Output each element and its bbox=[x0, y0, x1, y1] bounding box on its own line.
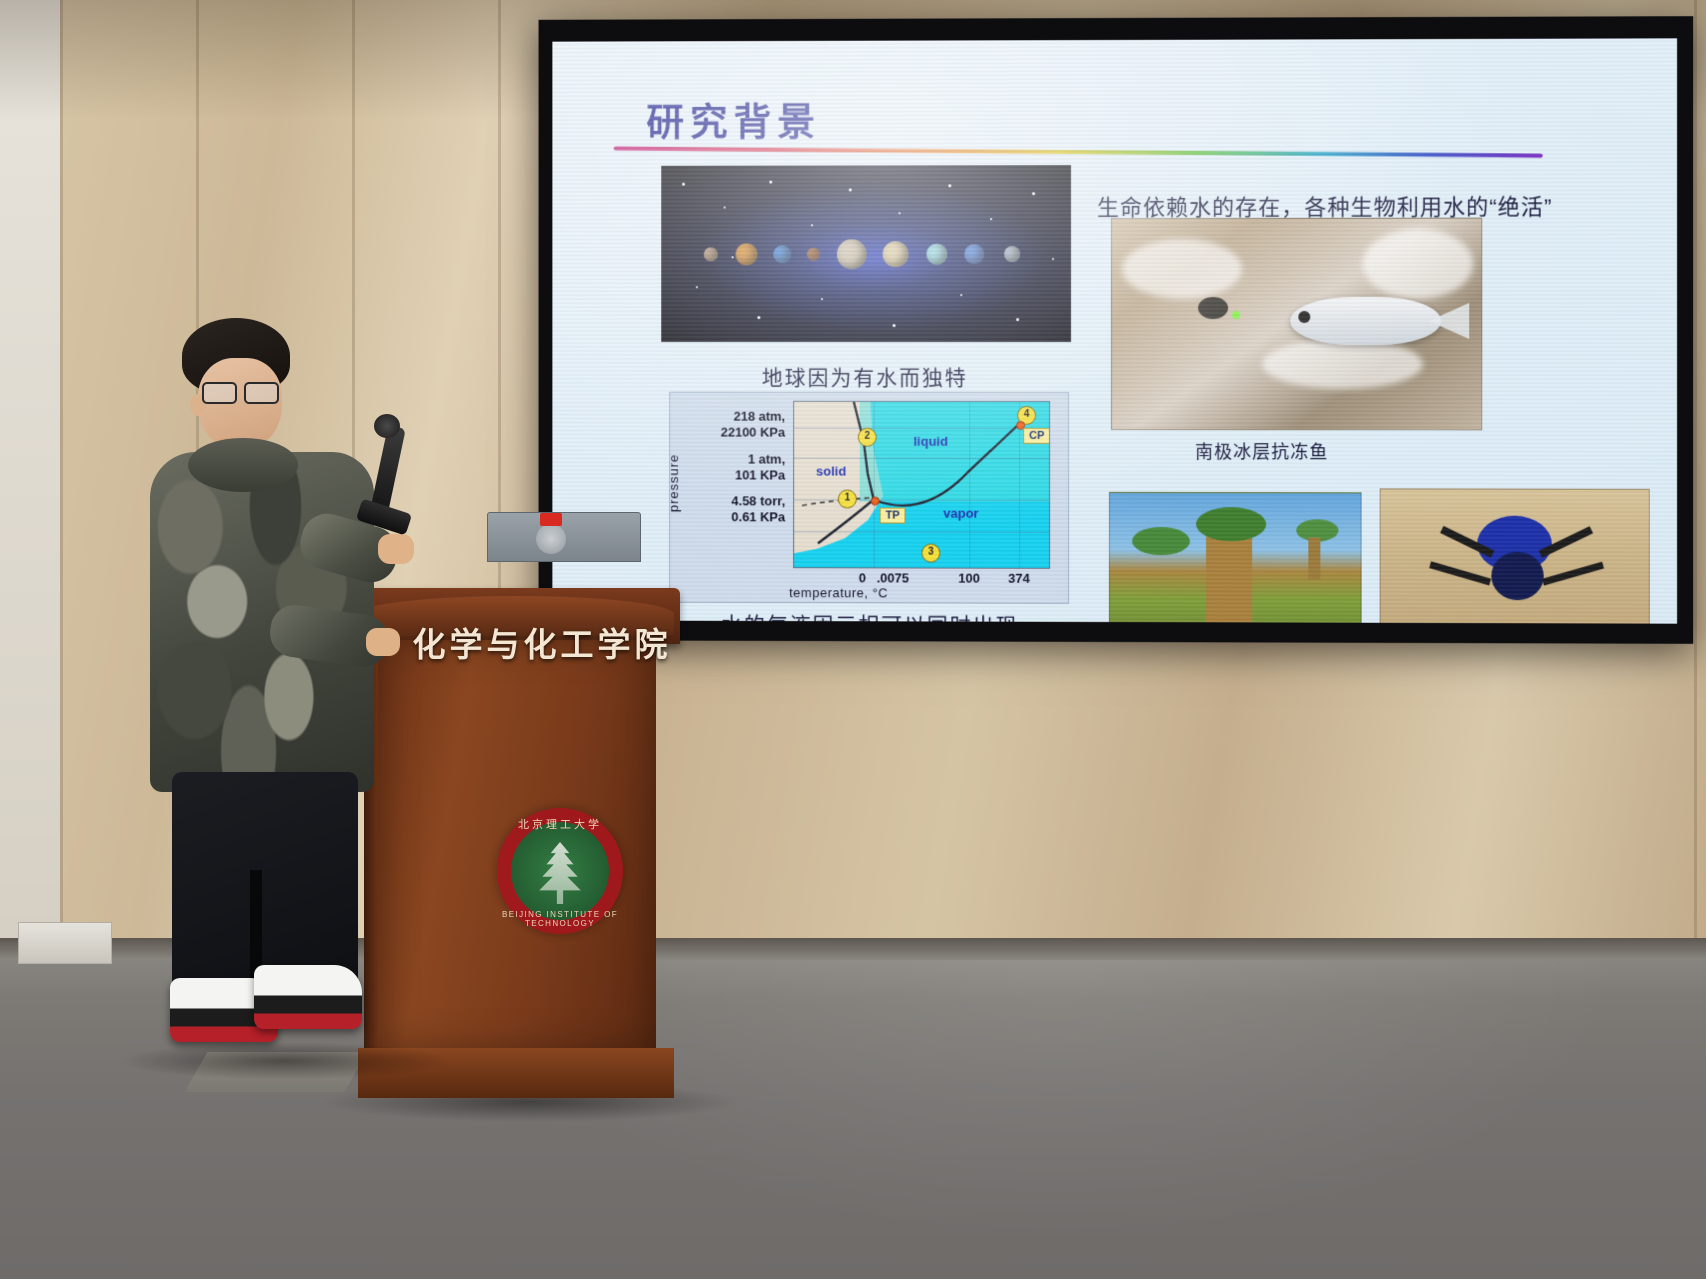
solar-system-image bbox=[661, 165, 1071, 342]
emblem-english-name: BEIJING INSTITUTE OF TECHNOLOGY bbox=[497, 910, 623, 928]
university-emblem: 北京理工大学 BEIJING INSTITUTE OF TECHNOLOGY bbox=[497, 808, 623, 934]
emblem-inner-disc bbox=[511, 822, 609, 920]
phase-diagram-x-ticks: 0 .0075 100 374 bbox=[793, 570, 1052, 571]
region-label-vapor: vapor bbox=[943, 506, 978, 521]
triple-point-dot bbox=[871, 497, 880, 506]
baobab-tree-photo bbox=[1109, 492, 1362, 624]
phase-diagram: 218 atm, 22100 KPa 1 atm, 101 KPa 4.58 t… bbox=[669, 392, 1069, 604]
caption-antarctic-fish: 南极冰层抗冻鱼 bbox=[1195, 438, 1328, 464]
pressure-label-critical-line2: 22100 KPa bbox=[678, 424, 785, 440]
planet-uranus bbox=[926, 243, 947, 264]
fish-eye bbox=[1298, 311, 1310, 323]
critical-point-tag: CP bbox=[1023, 428, 1050, 444]
planet-mercury bbox=[704, 247, 718, 261]
presentation-slide: 研究背景 bbox=[552, 38, 1677, 623]
emblem-chinese-name: 北京理工大学 bbox=[497, 816, 623, 832]
desert-beetle-photo bbox=[1380, 488, 1650, 623]
pressure-label-triple-line2: 0.61 KPa bbox=[678, 509, 785, 525]
phase-diagram-plot-area: solid liquid vapor 1 2 3 4 TP CP bbox=[793, 401, 1050, 569]
rainbow-divider bbox=[614, 146, 1543, 157]
marker-1: 1 bbox=[838, 490, 857, 509]
planet-pluto bbox=[1004, 246, 1020, 262]
presenter-hood bbox=[188, 438, 298, 492]
pressure-label-atm-line1: 1 atm, bbox=[678, 451, 785, 467]
triple-point-tag: TP bbox=[880, 508, 906, 524]
pressure-label-atm-line2: 101 KPa bbox=[678, 467, 785, 483]
marker-3: 3 bbox=[921, 544, 940, 563]
planet-saturn bbox=[883, 241, 909, 267]
planet-mars bbox=[807, 247, 820, 260]
phase-diagram-x-axis-label: temperature, °C bbox=[789, 585, 888, 600]
fish-tail bbox=[1429, 303, 1469, 339]
planet-venus bbox=[736, 243, 758, 265]
slide-title: 研究背景 bbox=[646, 91, 821, 146]
xtick-100: 100 bbox=[958, 571, 980, 586]
wall-seam bbox=[60, 0, 63, 1000]
planet-jupiter bbox=[837, 239, 867, 269]
phase-boundary-curves bbox=[794, 402, 1049, 568]
region-label-liquid: liquid bbox=[913, 434, 948, 449]
xtick-0075: .0075 bbox=[877, 570, 909, 585]
presentation-room-photo: 研究背景 bbox=[0, 0, 1706, 1279]
emblem-tree-icon bbox=[534, 842, 586, 904]
screen-display-area: 研究背景 bbox=[552, 38, 1677, 623]
floor-equipment-box bbox=[18, 922, 112, 964]
phase-diagram-caption: 水的气液固三相可以同时出现 bbox=[651, 609, 1089, 624]
microphone-head bbox=[374, 414, 400, 438]
antarctic-fish-photo bbox=[1111, 218, 1482, 431]
planet-earth bbox=[773, 245, 791, 263]
presenter-left-hand bbox=[366, 628, 400, 656]
pressure-label-critical-line1: 218 atm, bbox=[678, 409, 785, 425]
presenter-glasses bbox=[202, 382, 280, 400]
wall-seam bbox=[1694, 0, 1697, 1000]
pressure-label-triple-line1: 4.58 torr, bbox=[678, 494, 785, 510]
fish-body bbox=[1290, 297, 1441, 345]
lectern-department-text: 化学与化工学院 bbox=[378, 618, 706, 666]
planet-neptune bbox=[964, 244, 984, 264]
projection-screen: 研究背景 bbox=[539, 16, 1694, 644]
presenter-right-shoe bbox=[254, 965, 362, 1029]
floor-light-sheen bbox=[620, 960, 1706, 1279]
monitor-indicator-light bbox=[540, 513, 562, 526]
region-label-solid: solid bbox=[816, 464, 846, 479]
phase-diagram-y-axis-label: pressure bbox=[666, 454, 681, 512]
monitor-stand bbox=[536, 524, 566, 554]
phase-diagram-pressure-labels: 218 atm, 22100 KPa 1 atm, 101 KPa 4.58 t… bbox=[678, 409, 785, 537]
xtick-374: 374 bbox=[1008, 571, 1030, 586]
solar-system-caption: 地球因为有水而独特 bbox=[651, 362, 1079, 392]
presenter-face bbox=[198, 358, 282, 450]
presenter-right-hand bbox=[378, 534, 414, 564]
marker-2: 2 bbox=[858, 428, 877, 447]
presenter bbox=[150, 310, 420, 1070]
wall-left-white-panel bbox=[0, 0, 60, 940]
xtick-0: 0 bbox=[859, 570, 866, 585]
